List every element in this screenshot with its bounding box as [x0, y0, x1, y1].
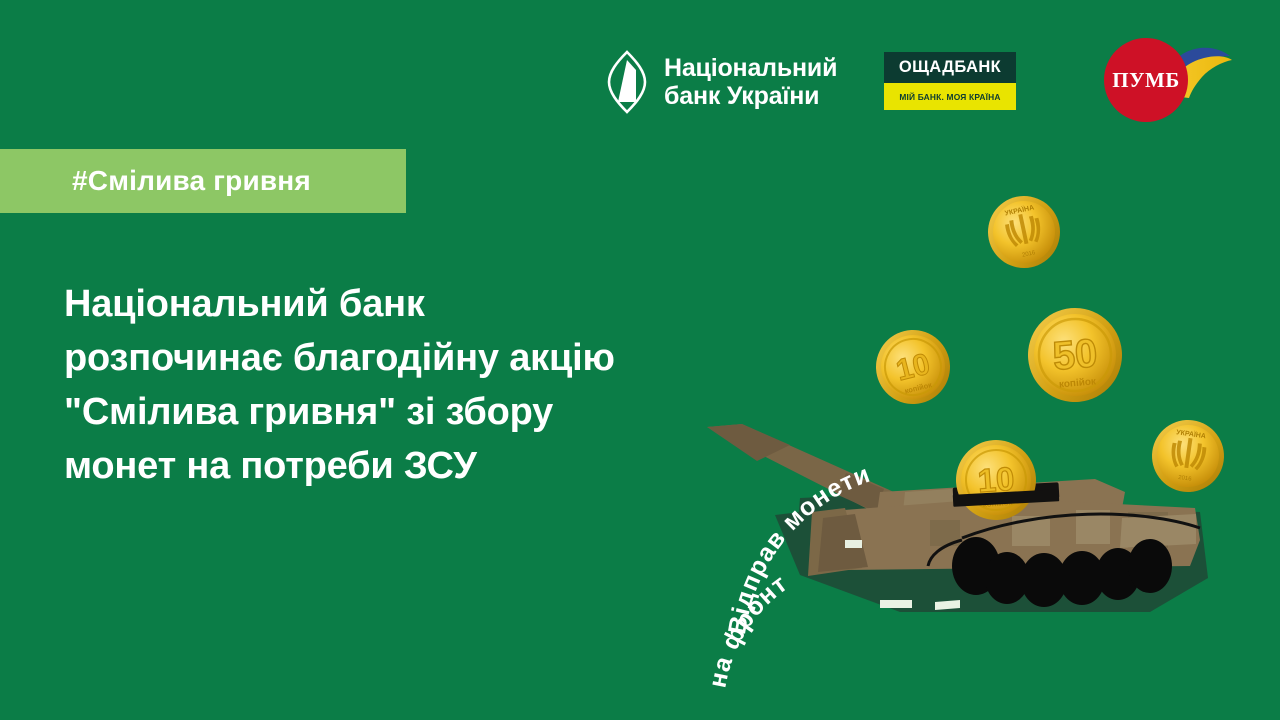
tank-glacis	[808, 508, 862, 576]
pumb-wordmark: ПУМБ	[1104, 38, 1188, 122]
coin-trident-right: УКРАЇНА 2016	[1147, 415, 1228, 496]
nbu-diamond-icon	[604, 50, 650, 114]
tank-wheel	[952, 537, 1000, 595]
svg-text:копійок: копійок	[1059, 376, 1098, 390]
nbu-line-1: Національний	[664, 54, 837, 82]
tank-turret-top	[903, 482, 1060, 512]
tank-skirt-front	[795, 492, 940, 560]
tank-cable-end	[928, 540, 962, 566]
coin-10-left: 10 копійок	[868, 322, 958, 412]
track-highlight	[880, 600, 912, 608]
tank-panel	[930, 520, 960, 546]
nbu-line-2: банк України	[664, 82, 819, 110]
coin-trident-top: УКРАЇНА 2016	[981, 189, 1066, 274]
tank-wheel	[1059, 551, 1105, 605]
hashtag-label: #Смілива гривня	[72, 165, 311, 197]
headline: Національний банк розпочинає благодійну …	[64, 278, 764, 494]
tank-wheel	[1128, 539, 1172, 593]
svg-text:10: 10	[893, 347, 933, 387]
oschadbank-tagline: МІЙ БАНК. МОЯ КРАЇНА	[899, 92, 1000, 102]
logo-row: Національнийбанк України ОЩАДБАНК МІЙ БА…	[0, 0, 1280, 140]
svg-text:УКРАЇНА: УКРАЇНА	[1176, 428, 1207, 440]
promo-banner: Відправ монети на фронт УКРАЇНА 2016	[0, 0, 1280, 720]
track-highlight	[845, 540, 862, 548]
tank-wheel	[1021, 553, 1067, 607]
tank-cable	[962, 514, 1200, 538]
tank-barrel-collar	[838, 473, 884, 512]
svg-text:копійок: копійок	[904, 380, 933, 396]
nbu-wordmark: Національнийбанк України	[664, 54, 837, 110]
svg-text:копійок: копійок	[983, 498, 1014, 509]
tank-turret	[876, 479, 1125, 540]
tank-illustration	[707, 424, 1208, 612]
logo-pumb[interactable]: ПУМБ	[1104, 38, 1234, 124]
tank-wheel	[1096, 548, 1140, 600]
svg-text:10: 10	[976, 460, 1015, 499]
svg-text:УКРАЇНА: УКРАЇНА	[1004, 203, 1035, 217]
tank-panel	[1120, 514, 1196, 548]
call-to-action-arc: Відправ монети на фронт	[703, 460, 874, 690]
svg-text:2016: 2016	[1022, 250, 1037, 259]
tank-hull	[812, 498, 1200, 570]
tank-skirt	[775, 500, 1208, 612]
tank-panel	[1012, 516, 1050, 546]
cta-line-bottom: на фронт	[703, 569, 793, 690]
logo-oschadbank[interactable]: ОЩАДБАНК МІЙ БАНК. МОЯ КРАЇНА	[884, 52, 1016, 110]
svg-text:2016: 2016	[1178, 475, 1193, 483]
tank-panel	[1128, 512, 1168, 548]
hashtag-band: #Смілива гривня	[0, 149, 406, 213]
coin-10-slot: 10 копійок	[953, 437, 1038, 522]
coin-50: 50 копійок	[1024, 304, 1126, 406]
oschadbank-name-block: ОЩАДБАНК	[884, 52, 1016, 83]
coin-slot	[953, 482, 1060, 504]
track-highlight	[935, 600, 960, 610]
oschadbank-name: ОЩАДБАНК	[899, 58, 1001, 77]
oschadbank-tagline-block: МІЙ БАНК. МОЯ КРАЇНА	[884, 83, 1016, 110]
tank-wheel	[985, 552, 1029, 604]
tank-panel	[1076, 510, 1110, 544]
tank-glacis-shade	[818, 514, 868, 572]
logo-nbu[interactable]: Національнийбанк України	[604, 50, 837, 114]
svg-text:50: 50	[1051, 331, 1099, 379]
coin-slot-lip	[953, 489, 1059, 507]
